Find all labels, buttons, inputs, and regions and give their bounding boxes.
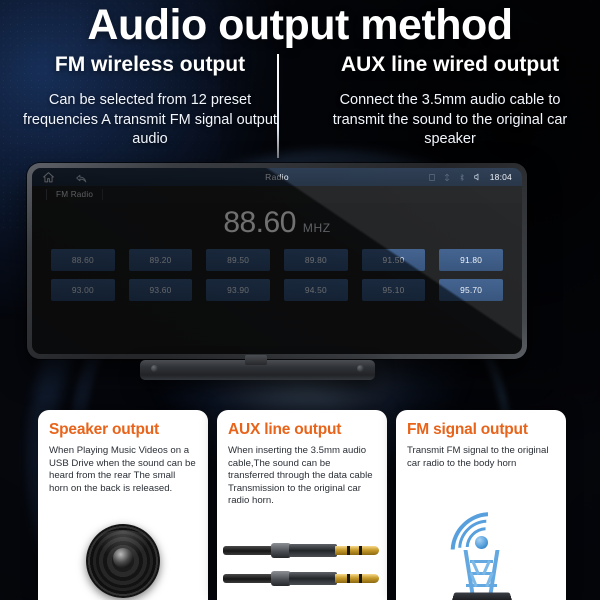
device-mounting-bracket bbox=[140, 360, 375, 380]
fm-tower-icon bbox=[396, 522, 566, 600]
current-frequency: 88.60 bbox=[223, 207, 296, 239]
card-body: When Playing Music Videos on a USB Drive… bbox=[49, 445, 197, 495]
column-divider bbox=[277, 54, 279, 158]
card-body: When inserting the 3.5mm audio cable,The… bbox=[228, 445, 376, 508]
card-fm-signal-output: FM signal output Transmit FM signal to t… bbox=[396, 410, 566, 600]
tab-row: FM Radio bbox=[32, 186, 522, 203]
mute-speaker-icon[interactable] bbox=[473, 172, 483, 182]
card-aux-line-output: AUX line output When inserting the 3.5mm… bbox=[217, 410, 387, 600]
preset-button[interactable]: 88.60 bbox=[51, 249, 115, 271]
bracket-neck bbox=[245, 355, 267, 365]
card-title: FM signal output bbox=[407, 421, 555, 439]
preset-grid: 88.6089.2089.5089.8091.5091.8093.0093.60… bbox=[51, 249, 503, 301]
back-arrow-icon[interactable] bbox=[75, 171, 88, 184]
preset-button[interactable]: 89.50 bbox=[206, 249, 270, 271]
signal-bars-icon bbox=[443, 173, 451, 182]
card-title: Speaker output bbox=[49, 421, 197, 439]
infographic-root: Audio output method FM wireless output C… bbox=[0, 0, 600, 600]
header-columns: FM wireless output Can be selected from … bbox=[0, 52, 600, 150]
column-fm-wireless: FM wireless output Can be selected from … bbox=[0, 52, 300, 150]
preset-button[interactable]: 91.50 bbox=[362, 249, 426, 271]
status-bar-right: 18:04 bbox=[428, 172, 512, 182]
column-body-aux: Connect the 3.5mm audio cable to transmi… bbox=[300, 91, 600, 150]
sim-card-icon bbox=[428, 173, 436, 182]
status-bar: Radio 18:04 bbox=[32, 168, 522, 186]
preset-button[interactable]: 95.10 bbox=[362, 279, 426, 301]
preset-button[interactable]: 95.70 bbox=[439, 279, 503, 301]
header: Audio output method FM wireless output C… bbox=[0, 0, 600, 150]
bluetooth-icon bbox=[458, 173, 466, 182]
device-screen[interactable]: Radio 18:04 bbox=[32, 168, 522, 354]
status-bar-clock: 18:04 bbox=[490, 172, 512, 182]
car-display-device: Radio 18:04 bbox=[27, 163, 527, 359]
speaker-icon bbox=[38, 522, 208, 600]
preset-button[interactable]: 89.20 bbox=[129, 249, 193, 271]
tab-fm-radio[interactable]: FM Radio bbox=[46, 189, 103, 200]
column-body-fm: Can be selected from 12 preset frequenci… bbox=[0, 91, 300, 150]
home-icon[interactable] bbox=[42, 171, 55, 184]
preset-button[interactable]: 91.80 bbox=[439, 249, 503, 271]
preset-button[interactable]: 93.90 bbox=[206, 279, 270, 301]
page-title: Audio output method bbox=[0, 2, 600, 49]
frequency-unit: MHZ bbox=[303, 221, 331, 235]
preset-button[interactable]: 94.50 bbox=[284, 279, 348, 301]
card-title: AUX line output bbox=[228, 421, 376, 439]
preset-button[interactable]: 89.80 bbox=[284, 249, 348, 271]
card-body: Transmit FM signal to the original car r… bbox=[407, 445, 555, 470]
feature-cards: Speaker output When Playing Music Videos… bbox=[38, 410, 566, 600]
preset-button[interactable]: 93.00 bbox=[51, 279, 115, 301]
card-speaker-output: Speaker output When Playing Music Videos… bbox=[38, 410, 208, 600]
column-heading-aux: AUX line wired output bbox=[300, 52, 600, 78]
status-bar-left bbox=[42, 171, 88, 184]
aux-cable-icon bbox=[217, 522, 387, 600]
column-aux-wired: AUX line wired output Connect the 3.5mm … bbox=[300, 52, 600, 150]
preset-button[interactable]: 93.60 bbox=[129, 279, 193, 301]
frequency-display: 88.60 MHZ bbox=[32, 207, 522, 239]
column-heading-fm: FM wireless output bbox=[0, 52, 300, 78]
